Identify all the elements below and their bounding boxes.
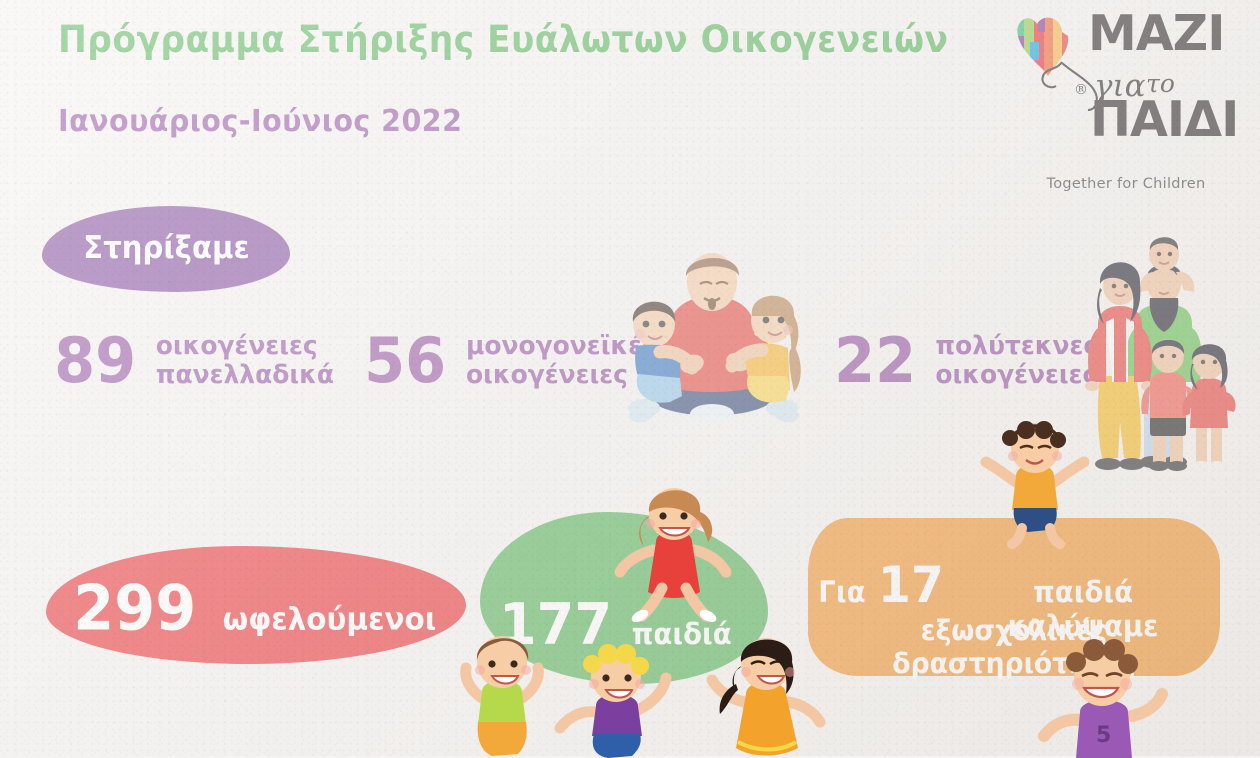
shirt-number: 5 xyxy=(1096,723,1111,748)
activities-prefix: Για xyxy=(818,575,865,609)
beneficiaries-callout: 299 ωφελούμενοι xyxy=(46,546,466,664)
stat-label-line-1: πολύτεκνες xyxy=(936,332,1099,361)
boy-in-orange-shirt-illustration xyxy=(982,424,1088,544)
logo-tagline: Together for Children xyxy=(1010,176,1242,192)
supported-banner-label: Στηρίξαμε xyxy=(83,230,249,266)
page-title: Πρόγραμμα Στήριξης Ευάλωτων Οικογενειών xyxy=(58,18,948,61)
beneficiaries-label: ωφελούμενοι xyxy=(222,601,436,637)
child-jumping-purple-shirt-illustration xyxy=(556,648,680,758)
logo-registered-mark: ® xyxy=(1074,82,1088,98)
organization-logo: ΜΑΖΙ ΠΑΙΔΙ ® για το Together for Childre… xyxy=(1010,6,1242,196)
stat-families-nationwide: 89 οικογένειες πανελλαδικά xyxy=(52,330,338,392)
page-subtitle: Ιανουάριος-Ιούνιος 2022 xyxy=(58,104,462,139)
beneficiaries-number: 299 xyxy=(74,571,197,644)
child-jumping-green-shirt-illustration xyxy=(448,636,558,756)
boy-purple-number-shirt-illustration: 5 xyxy=(1036,642,1166,758)
supported-banner: Στηρίξαμε xyxy=(42,206,290,292)
stat-label-line-2: οικογένειες xyxy=(936,361,1099,390)
large-family-illustration xyxy=(1078,232,1238,480)
logo-line-2-word-2: το xyxy=(1146,69,1175,98)
stat-label-line-1: οικογένειες xyxy=(156,332,334,361)
infographic-canvas: Πρόγραμμα Στήριξης Ευάλωτων Οικογενειών … xyxy=(0,0,1260,756)
logo-line-2-word-1: για xyxy=(1094,68,1146,104)
activities-number: 17 xyxy=(878,556,944,614)
stat-label: οικογένειες πανελλαδικά xyxy=(156,332,334,390)
stat-number: 89 xyxy=(54,330,136,392)
girl-in-orange-dress-illustration xyxy=(706,636,826,758)
stat-number: 22 xyxy=(834,330,916,392)
stat-label: πολύτεκνες οικογένειες xyxy=(936,332,1099,390)
stat-large-families: 22 πολύτεκνες οικογένειες xyxy=(832,330,1102,392)
stat-label-line-2: πανελλαδικά xyxy=(156,361,334,390)
girl-in-red-dress-illustration xyxy=(616,488,734,620)
stat-number: 56 xyxy=(364,330,446,392)
father-with-two-children-illustration xyxy=(596,246,826,436)
logo-line-1: ΜΑΖΙ xyxy=(1088,6,1224,62)
